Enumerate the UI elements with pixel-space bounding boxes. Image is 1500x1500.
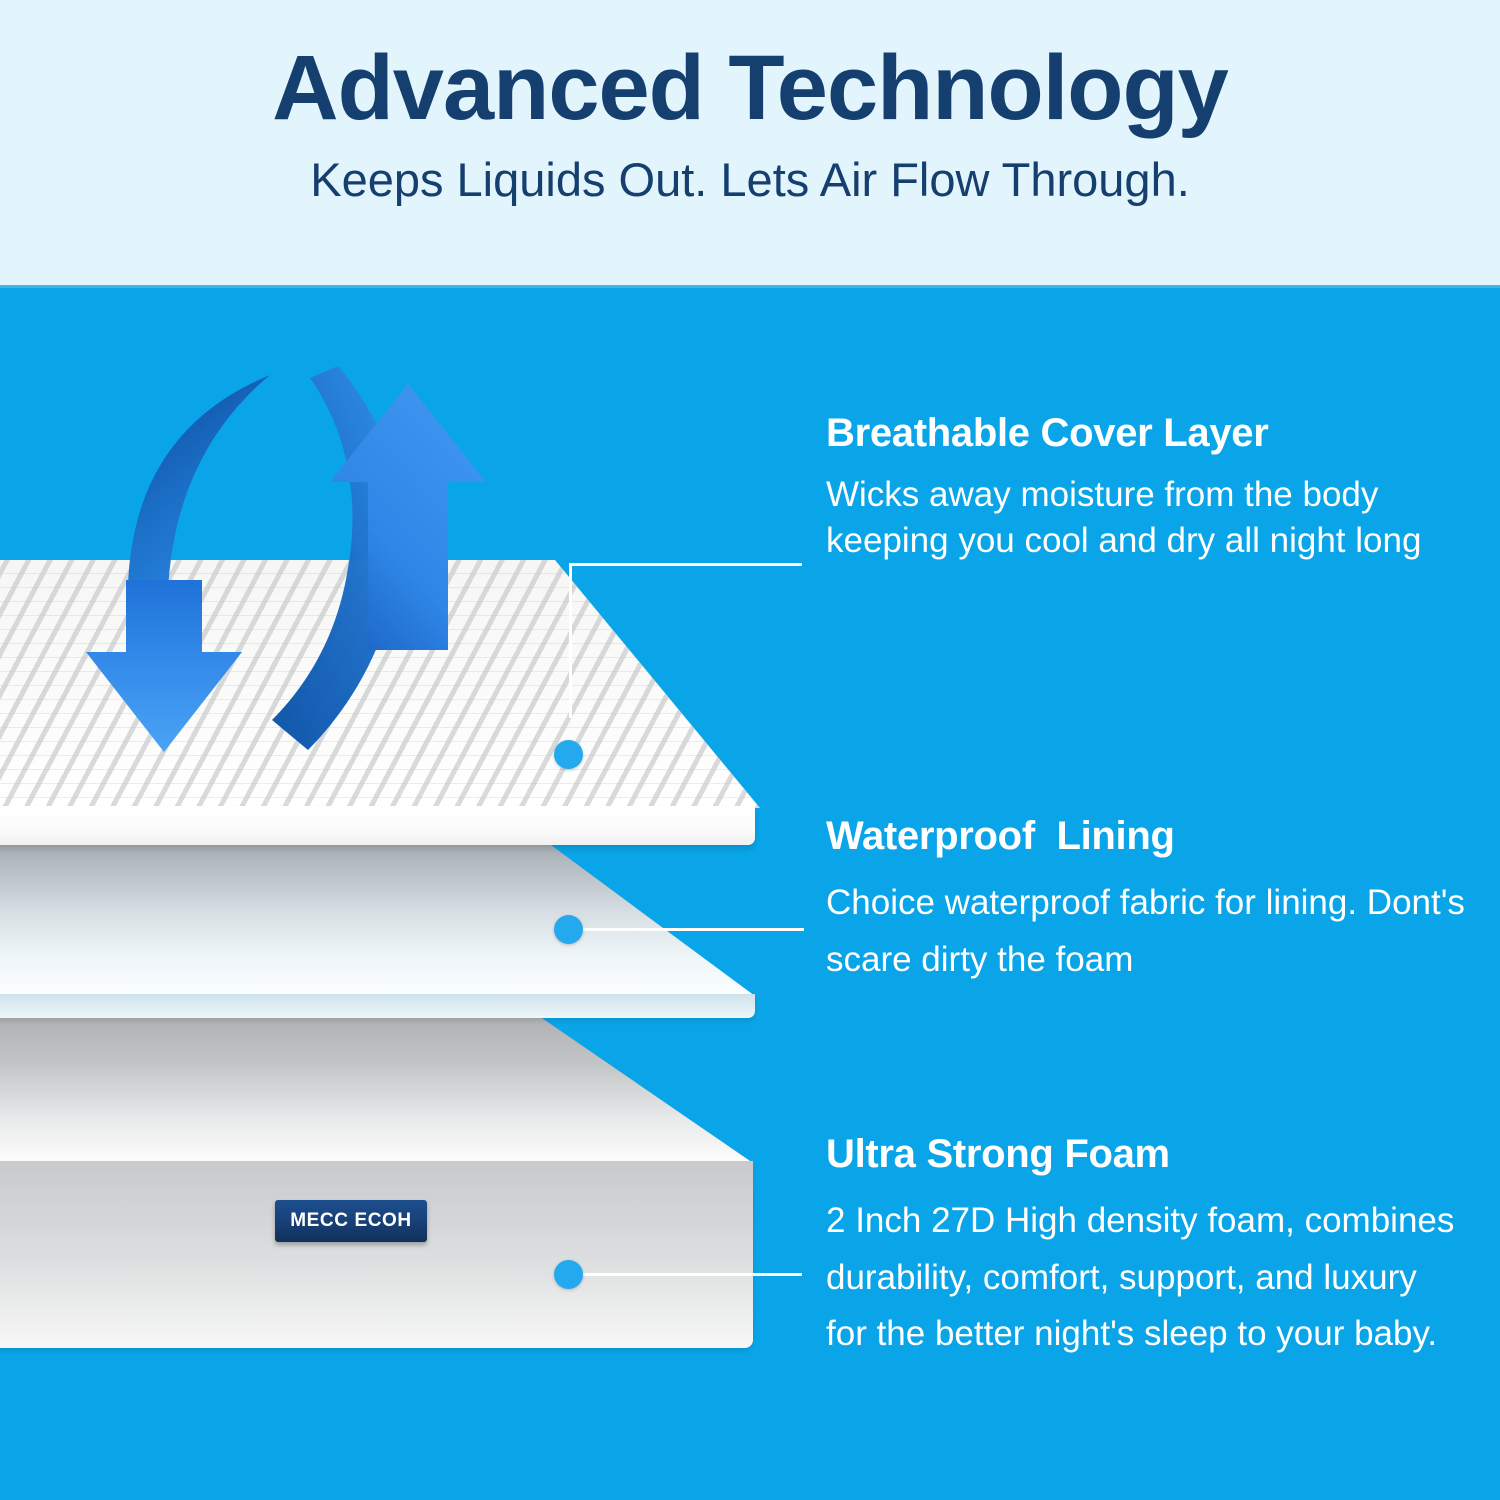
leader-line-foam — [576, 1273, 802, 1276]
layer-ultra-strong-foam: MECC ECOH — [0, 1003, 760, 1348]
page-title: Advanced Technology — [0, 42, 1500, 134]
callout-ultra-strong-foam: Ultra Strong Foam 2 Inch 27D High densit… — [826, 1133, 1466, 1363]
brand-badge: MECC ECOH — [275, 1200, 427, 1242]
callout-waterproof-lining: Waterproof Lining Choice waterproof fabr… — [826, 815, 1466, 988]
leader-line-cover-horizontal — [569, 563, 802, 566]
foam-front-face — [0, 1161, 753, 1348]
callout-3-body: 2 Inch 27D High density foam, combines d… — [826, 1193, 1466, 1363]
callout-2-body: Choice waterproof fabric for lining. Don… — [826, 875, 1466, 988]
leader-line-cover-vertical — [569, 563, 572, 718]
product-diagram-stage: MECC ECOH — [0, 288, 1500, 1500]
leader-line-lining — [576, 928, 804, 931]
cover-front-face — [0, 806, 755, 845]
infographic-page: Advanced Technology Keeps Liquids Out. L… — [0, 0, 1500, 1500]
callout-2-title: Waterproof Lining — [826, 815, 1466, 857]
airflow-arrows-group — [80, 360, 520, 770]
header-banner: Advanced Technology Keeps Liquids Out. L… — [0, 0, 1500, 288]
callout-breathable-cover: Breathable Cover Layer Wicks away moistu… — [826, 412, 1466, 564]
lining-front-face — [0, 994, 755, 1018]
callout-marker-lining[interactable] — [554, 915, 583, 944]
callout-marker-foam[interactable] — [554, 1260, 583, 1289]
air-flow-down-arrow-icon — [86, 580, 242, 752]
brand-badge-label: MECC ECOH — [290, 1210, 412, 1232]
callout-3-title: Ultra Strong Foam — [826, 1133, 1466, 1175]
callout-marker-cover[interactable] — [554, 740, 583, 769]
page-subtitle: Keeps Liquids Out. Lets Air Flow Through… — [0, 156, 1500, 203]
callout-1-title: Breathable Cover Layer — [826, 412, 1466, 454]
callout-1-body: Wicks away moisture from the body keepin… — [826, 472, 1466, 564]
